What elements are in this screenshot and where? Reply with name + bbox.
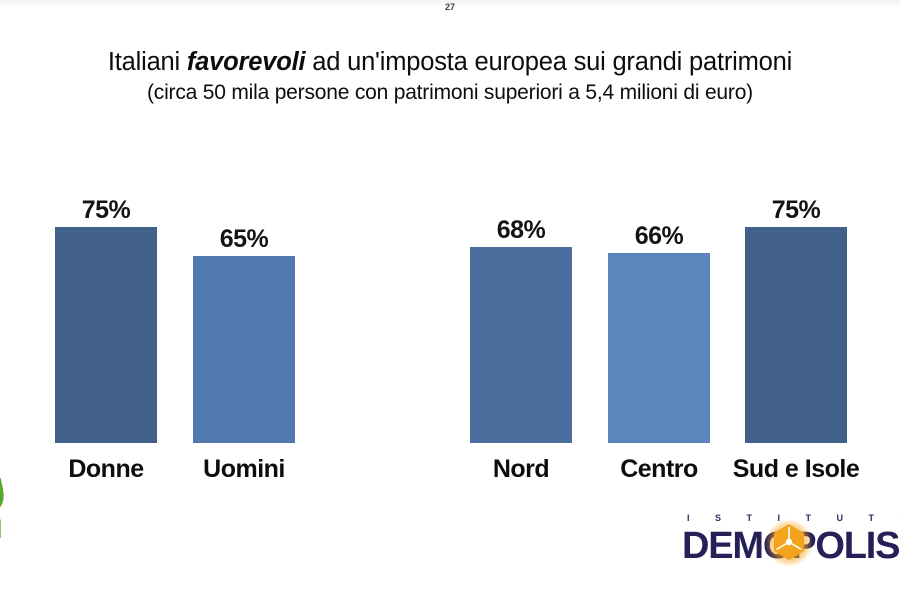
demopolis-wordmark: DEMOPOLIS xyxy=(682,525,899,568)
bar-chart: 75% Donne 65% Uomini 68% Nord 66% Centro xyxy=(0,0,900,600)
bar-value-label: 65% xyxy=(220,225,269,254)
bar-value-label: 68% xyxy=(497,216,546,245)
bar-item-uomini[interactable]: 65% Uomini xyxy=(193,256,295,443)
green-drop-logo: M xyxy=(0,480,38,558)
leaf-drop-icon xyxy=(0,478,7,512)
bar-value-label: 66% xyxy=(635,222,684,251)
bar-item-centro[interactable]: 66% Centro xyxy=(608,253,710,443)
bar-category-label: Centro xyxy=(620,455,698,484)
istituto-demopolis-logo: I S T I T U T O DEMOPOLIS xyxy=(682,513,900,571)
bar-rect[interactable] xyxy=(55,227,157,443)
bar-value-label: 75% xyxy=(82,196,131,225)
bar-category-label: Uomini xyxy=(203,455,285,484)
istituto-kicker: I S T I T U T O xyxy=(687,513,900,523)
bar-category-label: Donne xyxy=(68,455,143,484)
bar-rect[interactable] xyxy=(193,256,295,443)
bar-category-label: Sud e Isole xyxy=(733,455,859,484)
bar-category-label: Nord xyxy=(493,455,549,484)
bar-value-label: 75% xyxy=(772,196,821,225)
bar-item-nord[interactable]: 68% Nord xyxy=(470,247,572,443)
slide-root: 27 Italiani favorevoli ad un'imposta eur… xyxy=(0,0,900,600)
bar-rect[interactable] xyxy=(745,227,847,443)
bar-rect[interactable] xyxy=(608,253,710,443)
bar-item-sud-e-isole[interactable]: 75% Sud e Isole xyxy=(745,227,847,443)
bar-rect[interactable] xyxy=(470,247,572,443)
green-logo-wordmark: M xyxy=(0,514,2,545)
bar-item-donne[interactable]: 75% Donne xyxy=(55,227,157,443)
